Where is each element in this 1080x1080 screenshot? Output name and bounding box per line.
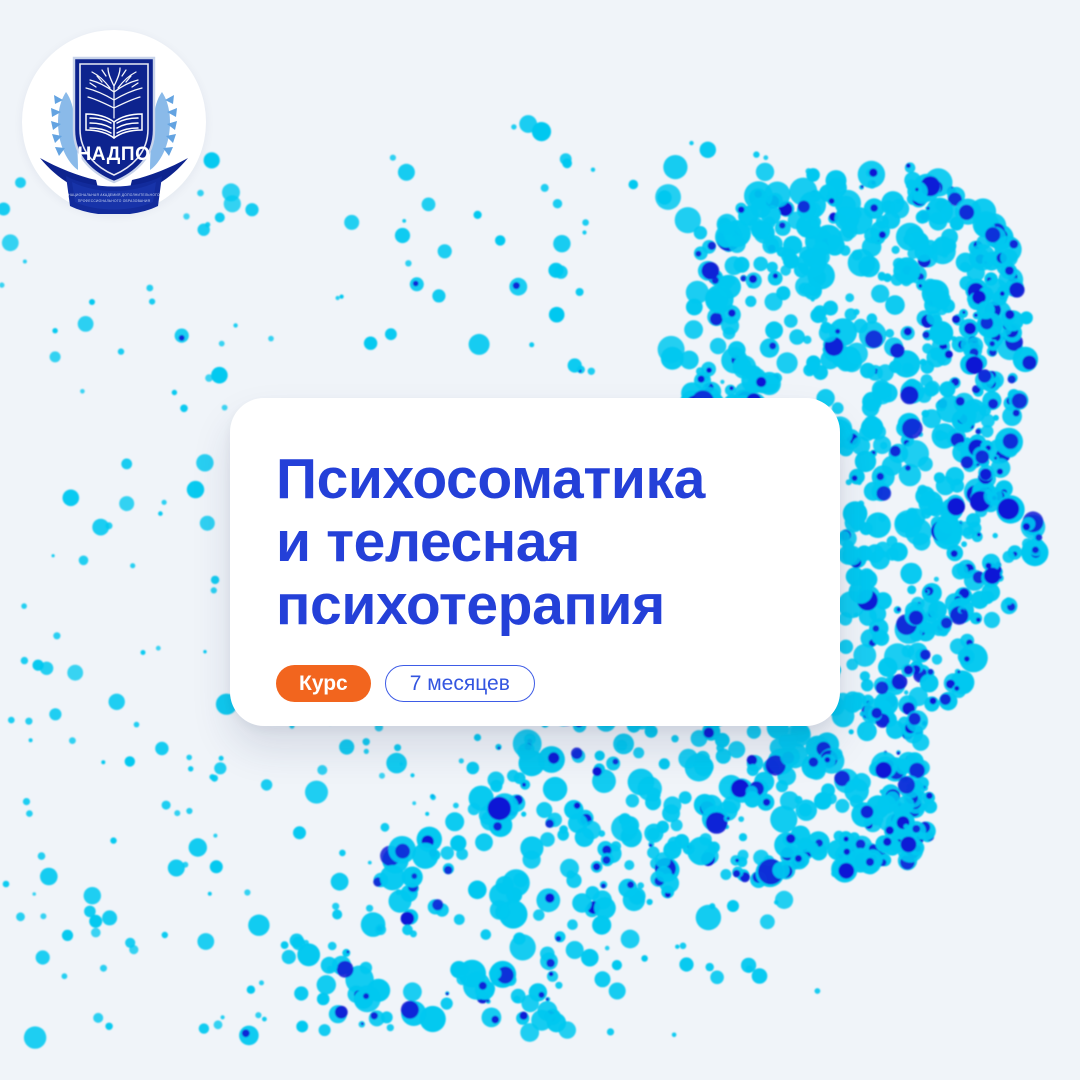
nadpo-logo[interactable]: НАДПО НАЦИОНАЛЬНАЯ АКАДЕМИЯ ДОПОЛНИТЕЛЬН… — [22, 30, 206, 214]
ribbon-text-line2: ПРОФЕССИОНАЛЬНОГО ОБРАЗОВАНИЯ — [78, 199, 151, 203]
badge-duration[interactable]: 7 месяцев — [385, 665, 535, 702]
course-title: Психосоматика и телесная психотерапия — [276, 448, 794, 637]
poster-canvas: НАДПО НАЦИОНАЛЬНАЯ АКАДЕМИЯ ДОПОЛНИТЕЛЬН… — [0, 0, 1080, 1080]
ribbon-text-line1: НАЦИОНАЛЬНАЯ АКАДЕМИЯ ДОПОЛНИТЕЛЬНОГО — [68, 193, 160, 197]
shield-emblem: НАДПО — [74, 58, 154, 182]
badge-course-type[interactable]: Курс — [276, 665, 371, 702]
logo-acronym-text: НАДПО — [77, 144, 150, 165]
course-card[interactable]: Психосоматика и телесная психотерапия Ку… — [230, 398, 840, 726]
course-badges: Курс 7 месяцев — [276, 665, 794, 702]
